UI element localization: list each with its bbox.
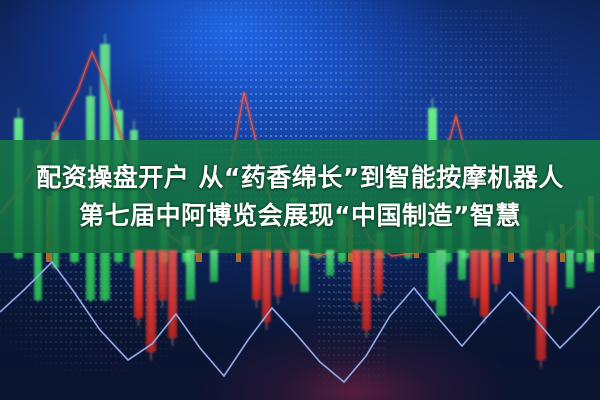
headline-line-2: 第七届中阿博览会展现“中国制造”智慧 <box>79 201 521 231</box>
promo-banner: 配资操盘开户 从“药香绵长”到智能按摩机器人 第七届中阿博览会展现“中国制造”智… <box>0 0 600 400</box>
digital-dot-matrix-lower-right-icon <box>330 250 540 380</box>
headline-line-1: 配资操盘开户 从“药香绵长”到智能按摩机器人 <box>36 163 564 193</box>
headline-block: 配资操盘开户 从“药香绵长”到智能按摩机器人 第七届中阿博览会展现“中国制造”智… <box>0 140 600 253</box>
digital-dot-matrix-drip-icon <box>318 235 388 400</box>
digital-dot-matrix-lower-icon <box>0 250 230 400</box>
